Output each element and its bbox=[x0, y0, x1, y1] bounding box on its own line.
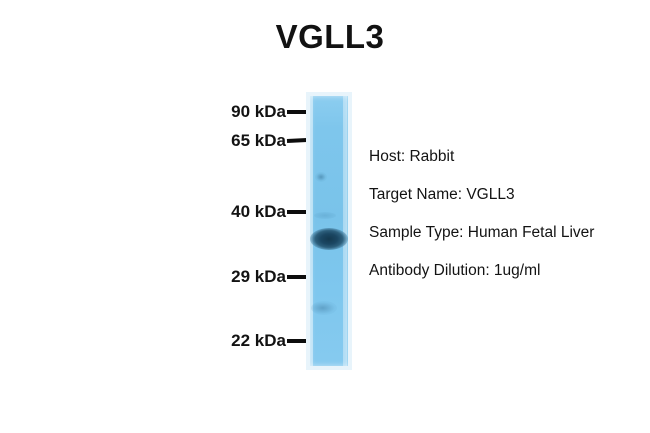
molecular-weight-ladder: 90 kDa 65 kDa 40 kDa 29 kDa 22 kDa bbox=[180, 90, 312, 380]
western-blot-figure: VGLL3 90 kDa 65 kDa 40 kDa 29 kDa 22 kDa bbox=[0, 0, 650, 433]
ladder-label-29: 29 kDa bbox=[231, 267, 286, 287]
ladder-label-40: 40 kDa bbox=[231, 202, 286, 222]
ladder-marker-65: 65 kDa bbox=[180, 131, 312, 151]
metadata-antibody-dilution: Antibody Dilution: 1ug/ml bbox=[369, 262, 644, 280]
metadata-host: Host: Rabbit bbox=[369, 148, 644, 166]
ladder-marker-90: 90 kDa bbox=[180, 102, 312, 122]
band-faint-mid bbox=[314, 212, 336, 219]
lane-edge-left bbox=[310, 96, 313, 366]
band-faint-lower bbox=[311, 301, 337, 315]
ladder-label-22: 22 kDa bbox=[231, 331, 286, 351]
ladder-label-90: 90 kDa bbox=[231, 102, 286, 122]
metadata-sample-type: Sample Type: Human Fetal Liver bbox=[369, 224, 644, 242]
metadata-target-name: Target Name: VGLL3 bbox=[369, 186, 644, 204]
figure-title: VGLL3 bbox=[0, 18, 650, 56]
metadata-block: Host: Rabbit Target Name: VGLL3 Sample T… bbox=[369, 148, 644, 280]
band-faint-upper bbox=[315, 172, 327, 182]
ladder-marker-29: 29 kDa bbox=[180, 267, 312, 287]
blot-lane bbox=[306, 92, 352, 370]
band-primary bbox=[310, 228, 348, 250]
ladder-label-65: 65 kDa bbox=[231, 131, 286, 151]
ladder-marker-22: 22 kDa bbox=[180, 331, 312, 351]
ladder-marker-40: 40 kDa bbox=[180, 202, 312, 222]
